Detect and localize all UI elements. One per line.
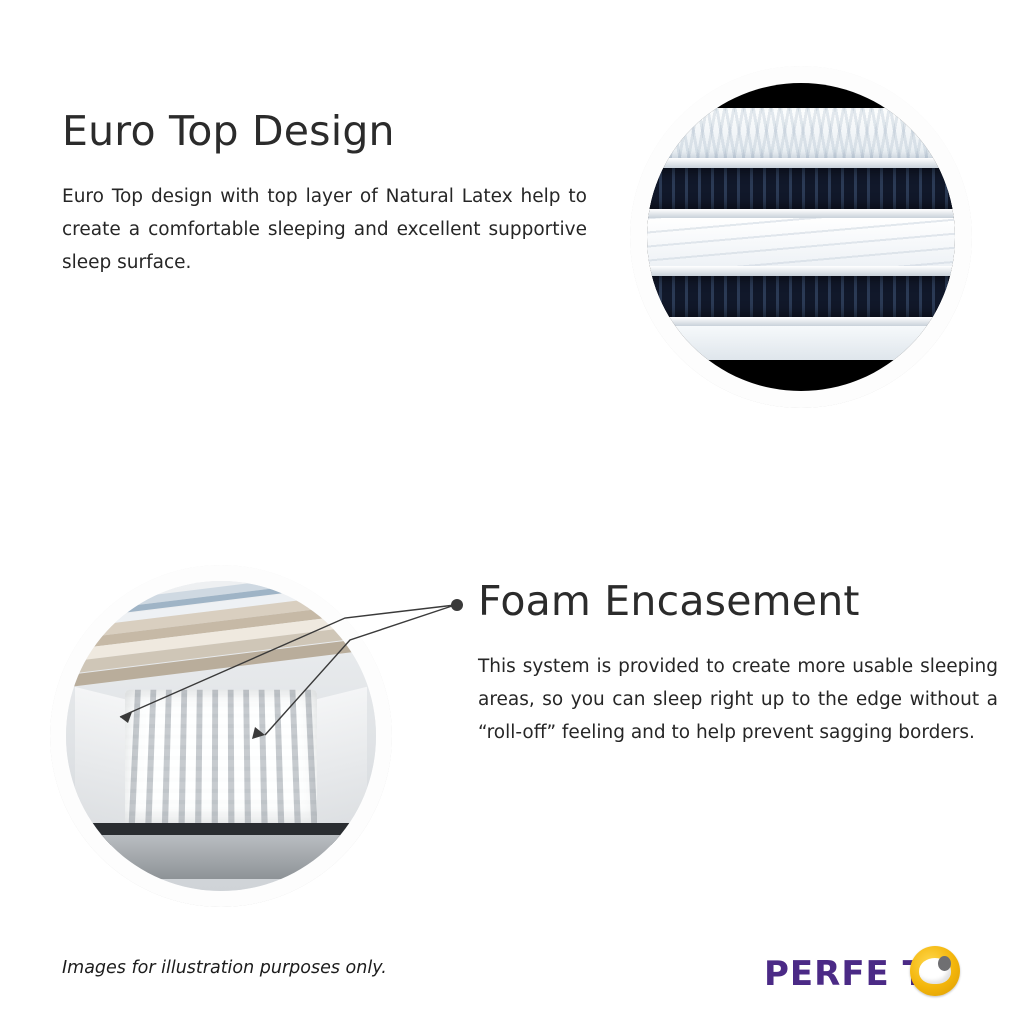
section-foam-encasement: Foam Encasement This system is provided … bbox=[0, 520, 1020, 940]
sheep-head-icon bbox=[938, 956, 951, 971]
infographic-page: Euro Top Design Euro Top design with top… bbox=[0, 0, 1020, 1021]
mattress-coil-layer-upper bbox=[647, 168, 955, 209]
mattress-trim-lower bbox=[647, 266, 955, 276]
mattress-cutaway-illustration bbox=[647, 108, 955, 348]
foam-encasement-text-block: Foam Encasement This system is provided … bbox=[478, 578, 998, 750]
mattress-coil-layer-lower bbox=[647, 276, 955, 317]
perfecta-logo: PERFE TA bbox=[764, 946, 994, 1002]
pocketed-coil-array bbox=[118, 690, 324, 824]
euro-top-photo bbox=[647, 83, 955, 391]
euro-top-photo-circle bbox=[630, 66, 972, 408]
disclaimer-text: Images for illustration purposes only. bbox=[62, 958, 387, 978]
foam-encasement-illustration bbox=[66, 581, 376, 891]
mattress-trim-middle bbox=[647, 209, 955, 219]
callout-bullet-dot bbox=[451, 599, 463, 611]
mattress-trim-bottom bbox=[647, 317, 955, 327]
comfort-layers-stack bbox=[66, 581, 376, 690]
mattress-trim-upper bbox=[647, 158, 955, 168]
foam-encasement-heading: Foam Encasement bbox=[478, 578, 998, 625]
mattress-quilted-top-layer bbox=[647, 108, 955, 158]
foam-encasement-body: This system is provided to create more u… bbox=[478, 651, 998, 750]
euro-top-body: Euro Top design with top layer of Natura… bbox=[62, 181, 587, 280]
mattress-foam-layer bbox=[647, 218, 955, 266]
mattress-floor-shadow bbox=[66, 835, 376, 878]
section-euro-top: Euro Top Design Euro Top design with top… bbox=[0, 0, 1020, 470]
euro-top-heading: Euro Top Design bbox=[62, 108, 587, 155]
sheep-badge-icon bbox=[910, 946, 960, 996]
mattress-base-layer bbox=[647, 326, 955, 360]
euro-top-text-block: Euro Top Design Euro Top design with top… bbox=[62, 108, 587, 280]
foam-encasement-photo-circle bbox=[50, 565, 392, 907]
foam-encasement-photo bbox=[66, 581, 376, 891]
